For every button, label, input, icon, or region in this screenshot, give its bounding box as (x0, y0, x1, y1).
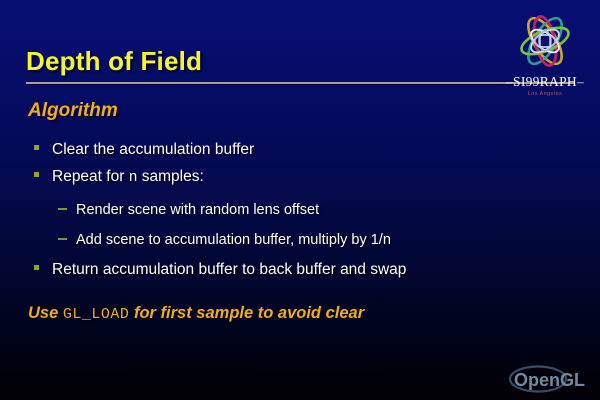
list-item-label: Add scene to accumulation buffer, multip… (76, 232, 391, 248)
list-item-text-before: Repeat for (52, 168, 129, 185)
square-bullet-icon (34, 172, 39, 177)
wordmark-dash-left: – (506, 74, 513, 89)
svg-text:.: . (582, 377, 585, 389)
list-item: Return accumulation buffer to back buffe… (34, 261, 406, 279)
siggraph-city-label: Los Angeles (496, 91, 594, 97)
square-bullet-icon (34, 265, 39, 270)
footnote-text-after: for first sample to avoid clear (129, 304, 364, 322)
square-bullet-icon (34, 145, 39, 150)
siggraph-wordmark: –SI99RAPH– (496, 74, 594, 90)
opengl-logo-icon: OpenGL . (508, 364, 592, 394)
list-item-label: Return accumulation buffer to back buffe… (52, 261, 406, 279)
list-item-label: Render scene with random lens offset (76, 202, 319, 218)
list-item: Add scene to accumulation buffer, multip… (58, 232, 391, 248)
slide-footnote: Use GL_LOAD for first sample to avoid cl… (28, 304, 364, 323)
footnote-text-before: Use (28, 304, 63, 322)
siggraph-rings-icon (496, 8, 594, 78)
list-item: Clear the accumulation buffer (34, 141, 254, 159)
list-item-label: Repeat for n samples: (52, 168, 204, 186)
siggraph-logo: –SI99RAPH– Los Angeles (496, 8, 594, 104)
list-item: Repeat for n samples: (34, 168, 204, 186)
dash-bullet-icon (58, 208, 67, 210)
page-title: Depth of Field (26, 46, 202, 77)
wordmark-dash-right: – (577, 74, 584, 89)
title-divider (26, 82, 574, 84)
opengl-logo: OpenGL . (508, 364, 592, 394)
presentation-slide: Depth of Field Algorithm Clear the accum… (0, 0, 600, 400)
inline-code-gl-load: GL_LOAD (63, 306, 130, 323)
wordmark-text: SI99RAPH (513, 74, 577, 89)
list-item: Render scene with random lens offset (58, 202, 319, 218)
list-item-label: Clear the accumulation buffer (52, 141, 254, 159)
list-item-text-after: samples: (137, 168, 203, 185)
svg-text:OpenGL: OpenGL (514, 370, 585, 390)
dash-bullet-icon (58, 238, 67, 240)
section-heading: Algorithm (28, 100, 118, 122)
